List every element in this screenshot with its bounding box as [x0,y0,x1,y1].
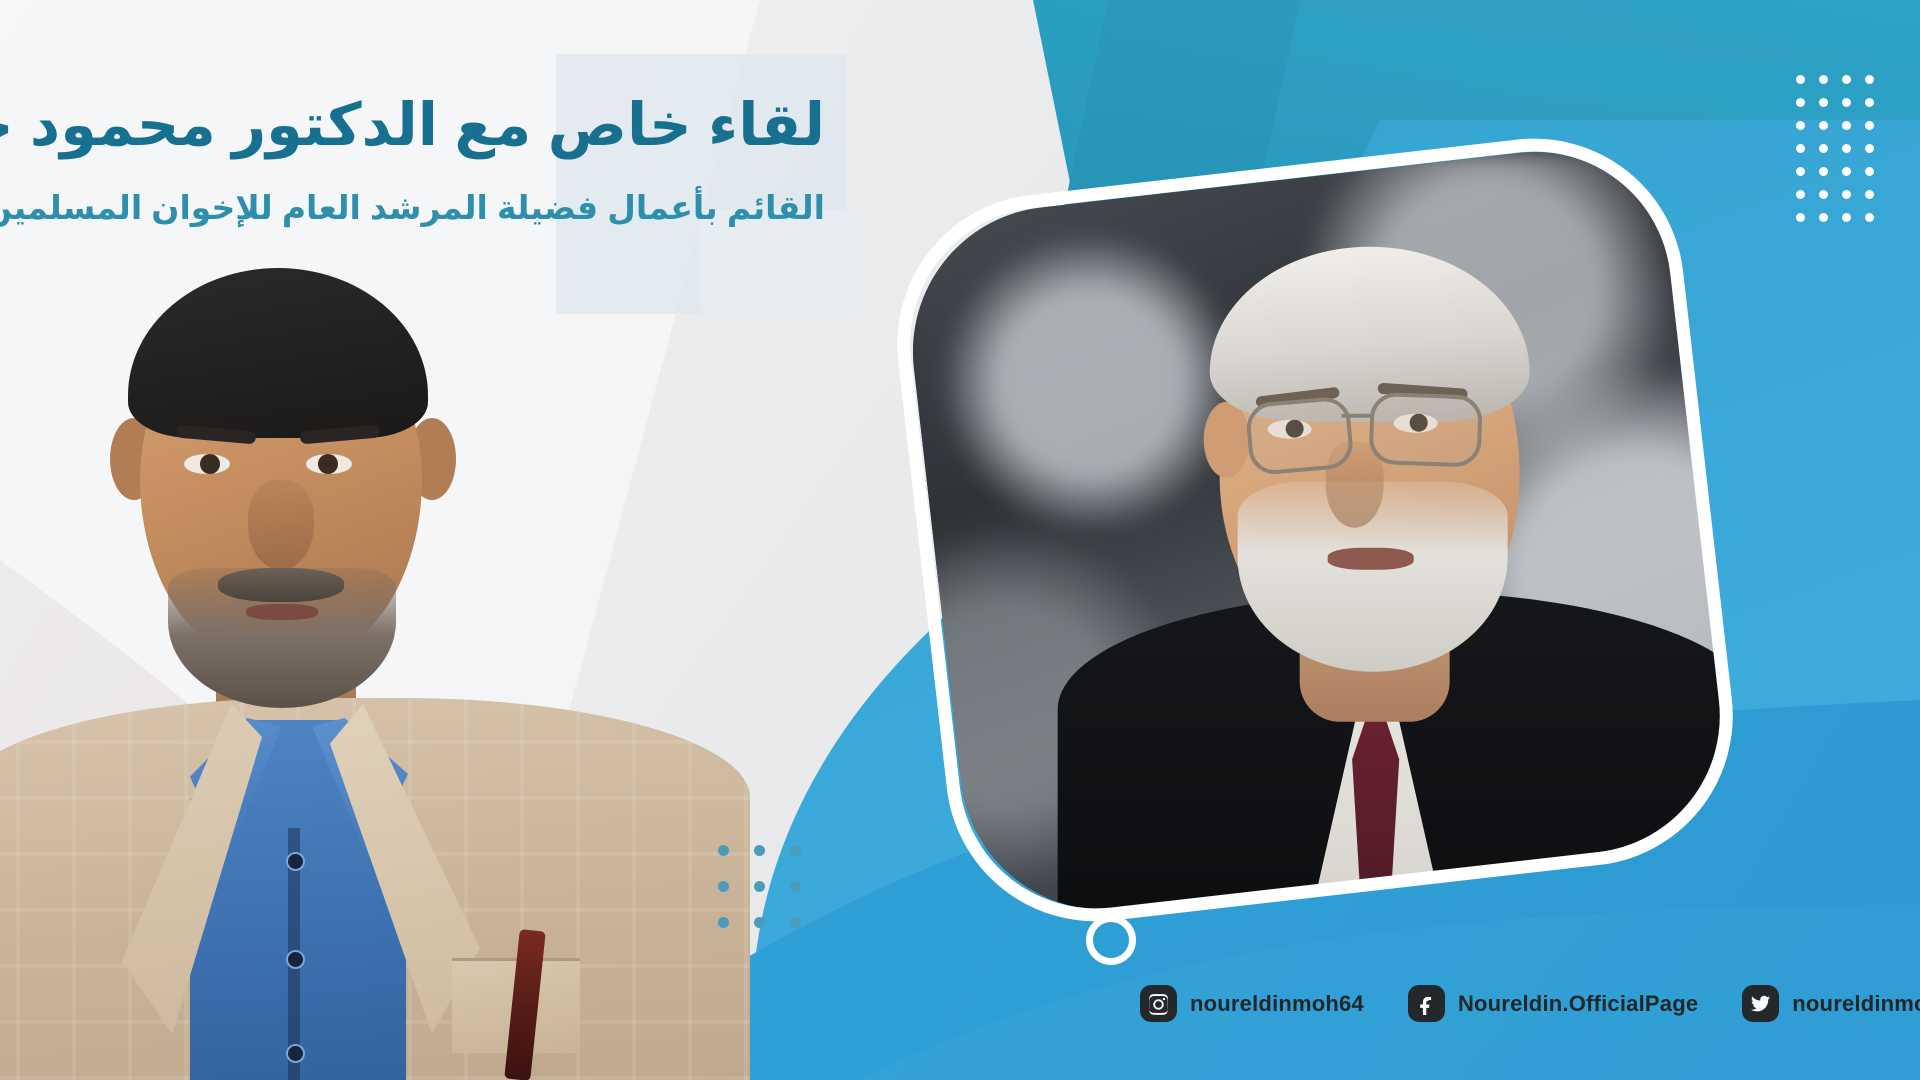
guest-ear [1204,402,1250,478]
social-handle-instagram: noureldinmoh64 [1190,991,1364,1017]
dot-grid-top-right [1796,75,1888,236]
host-moustache [218,568,344,602]
host-pupil-right [318,454,338,474]
guest-mouth [1328,548,1414,570]
facebook-icon[interactable] [1408,985,1445,1022]
host-mouth [246,604,318,620]
circle-outline-icon [1086,915,1136,965]
twitter-icon[interactable] [1742,985,1779,1022]
host-pupil-left [200,454,220,474]
social-bar: noureldinmoh64 Noureldin.OfficialPage no… [1140,985,1920,1022]
guest-portrait-right [898,137,1743,926]
host-nose [248,480,314,570]
host-hair [128,268,428,438]
social-item-instagram[interactable]: noureldinmoh64 [1140,985,1364,1022]
guest-eyeglass-left [1245,395,1355,476]
social-item-twitter[interactable]: noureldinmoh [1742,985,1920,1022]
host-shirt-button [286,1044,305,1063]
guest-photo-content [908,152,1738,922]
page-title: لقاء خاص مع الدكتور محمود حسين [0,92,825,158]
instagram-icon[interactable] [1140,985,1177,1022]
host-shirt-button [286,950,305,969]
page-subtitle: القائم بأعمال فضيلة المرشد العام للإخوان… [0,184,825,232]
host-portrait-left [0,268,730,1080]
social-handle-twitter: noureldinmoh [1792,991,1920,1017]
social-handle-facebook: Noureldin.OfficialPage [1458,991,1698,1017]
social-item-facebook[interactable]: Noureldin.OfficialPage [1408,985,1698,1022]
dot-grid-center [718,845,826,953]
poster-canvas: لقاء خاص مع الدكتور محمود حسين القائم بأ… [0,0,1920,1080]
host-shirt-button [286,852,305,871]
headline-block: لقاء خاص مع الدكتور محمود حسين القائم بأ… [0,92,825,232]
guest-eyeglass-bridge [1342,414,1374,418]
guest-eyeglass-right [1368,392,1482,468]
